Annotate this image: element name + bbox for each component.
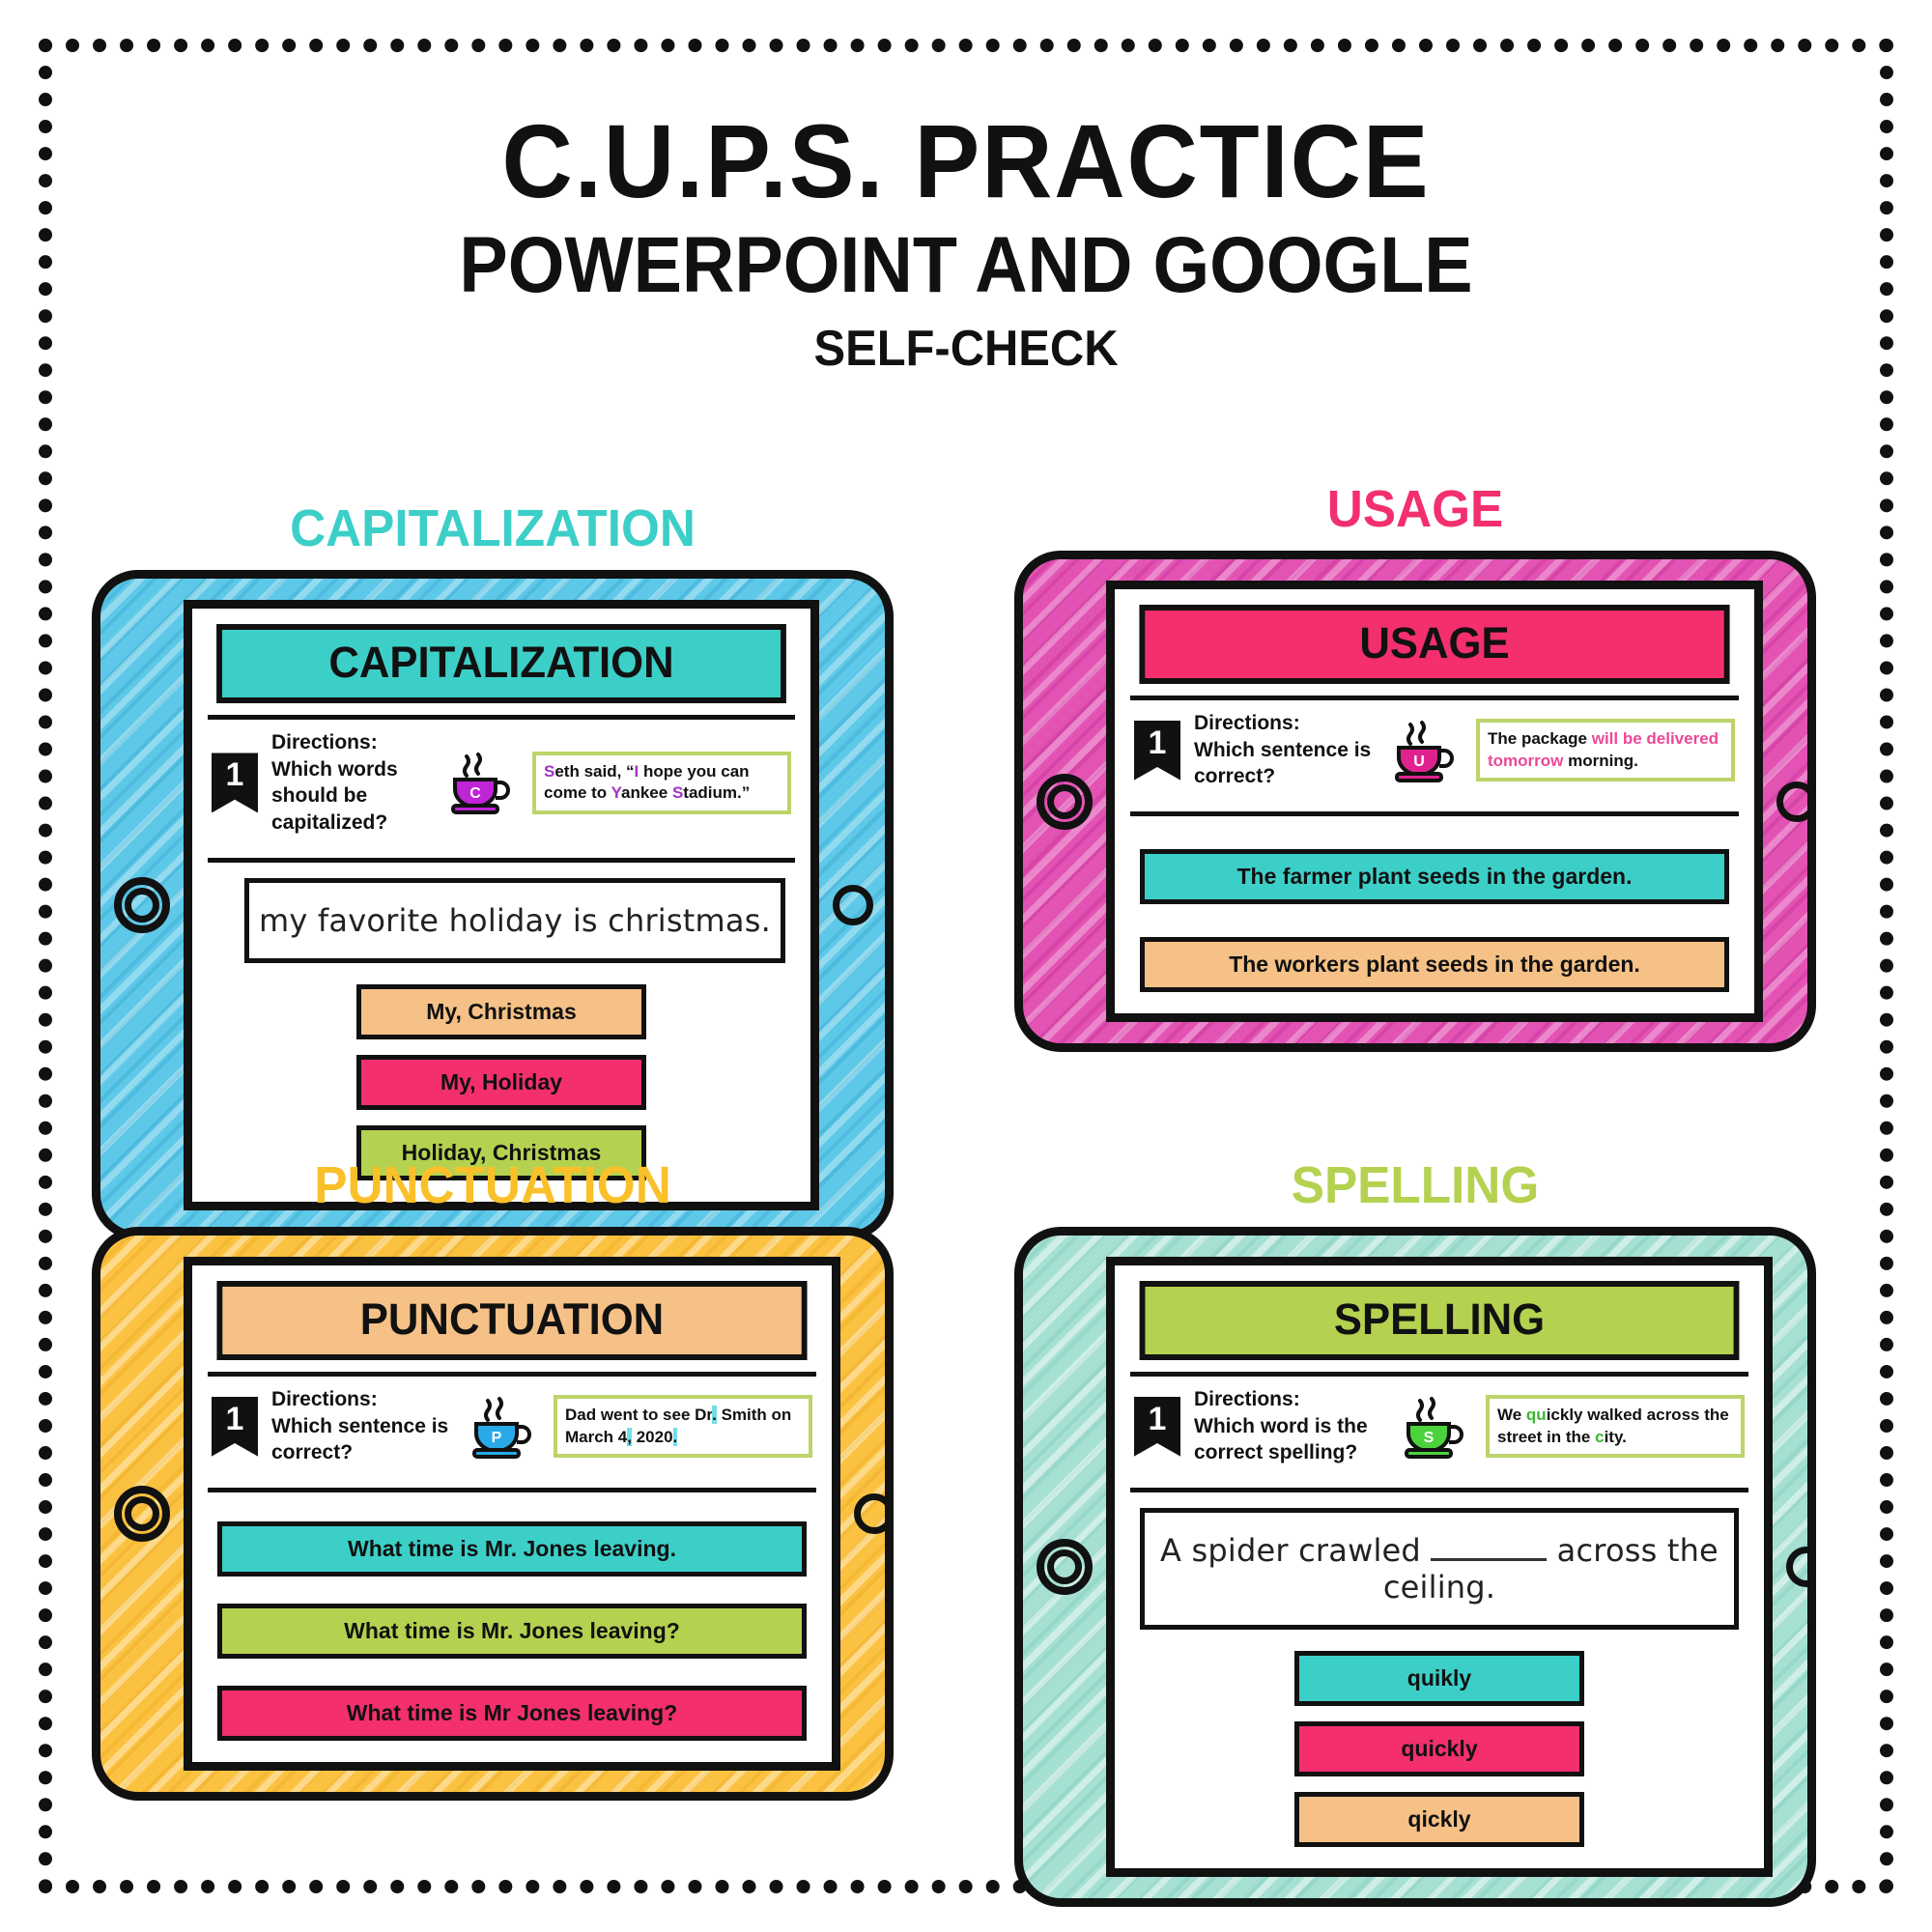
slide-screen-spelling: SPELLING 1 Directions: Which word is the… (1106, 1257, 1773, 1877)
question-prompt: my favorite holiday is christmas. (244, 878, 785, 963)
panel-spelling: SPELLING SPELLING 1 Directions: Which wo… (1014, 1159, 1816, 1907)
example-text: eth said, “ (554, 762, 634, 781)
example-text: Dad went to see Dr (565, 1406, 712, 1424)
tablet-home-button[interactable] (1037, 774, 1093, 830)
title-line-selfcheck: SELF-CHECK (58, 320, 1874, 378)
example-text: Smith on (717, 1406, 791, 1424)
title-line-main: C.U.P.S. PRACTICE (58, 106, 1874, 215)
example-hl: Y (611, 783, 621, 802)
tablet-home-button[interactable] (114, 877, 170, 933)
example-sentence-box: The package will be delivered tomorrow m… (1476, 719, 1735, 782)
coffee-cup-icon: S (1399, 1395, 1472, 1459)
slide-banner-capitalization: CAPITALIZATION (216, 624, 786, 703)
coffee-cup-icon: P (467, 1395, 540, 1459)
tablet-spelling: SPELLING 1 Directions: Which word is the… (1014, 1227, 1816, 1907)
question-body: The farmer plant seeds in the garden. Th… (1130, 816, 1739, 996)
example-text: come to (544, 783, 611, 802)
example-text: ickly walked across (1547, 1406, 1700, 1424)
directions-label: Directions: (271, 729, 432, 756)
example-text: 2020 (632, 1428, 673, 1446)
directions-text: Directions: Which word is the correct sp… (1194, 1386, 1385, 1466)
question-body: my favorite holiday is christmas. My, Ch… (208, 863, 795, 1184)
example-sentence-box: Dad went to see Dr. Smith on March 4, 20… (554, 1395, 812, 1459)
answer-choice[interactable]: My, Holiday (356, 1055, 646, 1110)
example-hl: qu (1526, 1406, 1547, 1424)
cup-letter: U (1413, 753, 1425, 770)
directions-question: Which sentence is correct? (1194, 737, 1376, 790)
directions-question: Which words should be capitalized? (271, 756, 432, 837)
directions-row: 1 Directions: Which sentence is correct?… (1130, 700, 1739, 800)
example-text: ity. (1605, 1428, 1627, 1446)
answer-choice[interactable]: What time is Mr Jones leaving? (217, 1686, 807, 1741)
example-hl: S (544, 762, 554, 781)
directions-label: Directions: (1194, 1386, 1385, 1413)
directions-text: Directions: Which sentence is correct? (271, 1386, 453, 1466)
cup-letter: P (492, 1430, 502, 1446)
panel-usage: USAGE USAGE 1 Directions: Which sentence… (1014, 483, 1816, 1052)
directions-question: Which word is the correct spelling? (1194, 1413, 1385, 1466)
directions-row: 1 Directions: Which word is the correct … (1130, 1377, 1748, 1476)
example-hl: tomorrow (1488, 752, 1563, 770)
page-title: C.U.P.S. PRACTICE POWERPOINT AND GOOGLE … (0, 106, 1932, 378)
slide-banner-usage: USAGE (1139, 605, 1729, 684)
question-number-flag: 1 (212, 1397, 258, 1457)
prompt-text-before: A spider crawled (1160, 1532, 1431, 1569)
coffee-cup-icon: U (1389, 719, 1463, 782)
section-label-spelling: SPELLING (1035, 1159, 1797, 1211)
directions-label: Directions: (1194, 710, 1376, 737)
question-body: A spider crawled across the ceiling. qui… (1130, 1492, 1748, 1851)
example-sentence-box: Seth said, “I hope you can come to Yanke… (532, 752, 791, 815)
question-prompt: A spider crawled across the ceiling. (1140, 1508, 1739, 1630)
directions-row: 1 Directions: Which words should be capi… (208, 720, 795, 846)
tablet-camera-button[interactable] (1786, 1547, 1816, 1587)
directions-text: Directions: Which sentence is correct? (1194, 710, 1376, 790)
example-text: hope you can (639, 762, 749, 781)
panel-capitalization: CAPITALIZATION CAPITALIZATION 1 Directio… (92, 502, 894, 1240)
answer-choice[interactable]: What time is Mr. Jones leaving. (217, 1521, 807, 1577)
question-number-flag: 1 (1134, 721, 1180, 781)
example-text: tadium.” (683, 783, 750, 802)
slide-screen-usage: USAGE 1 Directions: Which sentence is co… (1106, 581, 1763, 1022)
directions-text: Directions: Which words should be capita… (271, 729, 432, 837)
slide-banner-spelling: SPELLING (1140, 1281, 1740, 1360)
example-hl: c (1595, 1428, 1604, 1446)
answer-choice[interactable]: The farmer plant seeds in the garden. (1140, 849, 1729, 904)
cup-letter: S (1424, 1430, 1435, 1446)
example-text: March 4 (565, 1428, 627, 1446)
answer-choice[interactable]: The workers plant seeds in the garden. (1140, 937, 1729, 992)
example-sentence-box: We quickly walked across the street in t… (1486, 1395, 1745, 1459)
cup-letter: C (469, 785, 481, 802)
example-hl: will be delivered (1592, 729, 1719, 748)
directions-row: 1 Directions: Which sentence is correct?… (208, 1377, 816, 1476)
panel-punctuation: PUNCTUATION PUNCTUATION 1 Directions: Wh… (92, 1159, 894, 1801)
directions-label: Directions: (271, 1386, 453, 1413)
title-line-sub: POWERPOINT AND GOOGLE (77, 221, 1855, 310)
section-label-punctuation: PUNCTUATION (112, 1159, 874, 1211)
question-number-flag: 1 (212, 753, 258, 812)
tablet-camera-button[interactable] (833, 885, 873, 925)
directions-question: Which sentence is correct? (271, 1413, 453, 1466)
poster-canvas: C.U.P.S. PRACTICE POWERPOINT AND GOOGLE … (0, 0, 1932, 1932)
fill-in-blank (1431, 1558, 1547, 1561)
example-text: We (1497, 1406, 1526, 1424)
tablet-home-button[interactable] (1037, 1539, 1093, 1595)
answer-choice[interactable]: My, Christmas (356, 984, 646, 1039)
section-label-usage: USAGE (1035, 483, 1797, 535)
answer-choice[interactable]: qickly (1294, 1792, 1584, 1847)
example-text: morning. (1563, 752, 1637, 770)
example-hl: . (673, 1428, 678, 1446)
tablet-camera-button[interactable] (854, 1493, 894, 1534)
tablet-camera-button[interactable] (1776, 781, 1816, 822)
coffee-cup-icon: C (445, 751, 519, 814)
tablet-home-button[interactable] (114, 1486, 170, 1542)
example-text: ankee (621, 783, 672, 802)
section-label-capitalization: CAPITALIZATION (112, 502, 874, 554)
slide-banner-punctuation: PUNCTUATION (216, 1281, 807, 1360)
question-body: What time is Mr. Jones leaving. What tim… (208, 1492, 816, 1745)
tablet-punctuation: PUNCTUATION 1 Directions: Which sentence… (92, 1227, 894, 1801)
tablet-capitalization: CAPITALIZATION 1 Directions: Which words… (92, 570, 894, 1240)
answer-choice[interactable]: quickly (1294, 1721, 1584, 1776)
answer-choice[interactable]: quikly (1294, 1651, 1584, 1706)
prompt-text-after: across the ceiling. (1383, 1532, 1719, 1605)
slide-screen-punctuation: PUNCTUATION 1 Directions: Which sentence… (184, 1257, 840, 1771)
answer-choice[interactable]: What time is Mr. Jones leaving? (217, 1604, 807, 1659)
example-hl: S (672, 783, 683, 802)
slide-screen-capitalization: CAPITALIZATION 1 Directions: Which words… (184, 600, 819, 1210)
question-number-flag: 1 (1134, 1397, 1180, 1457)
example-text: The package (1488, 729, 1592, 748)
tablet-usage: USAGE 1 Directions: Which sentence is co… (1014, 551, 1816, 1052)
